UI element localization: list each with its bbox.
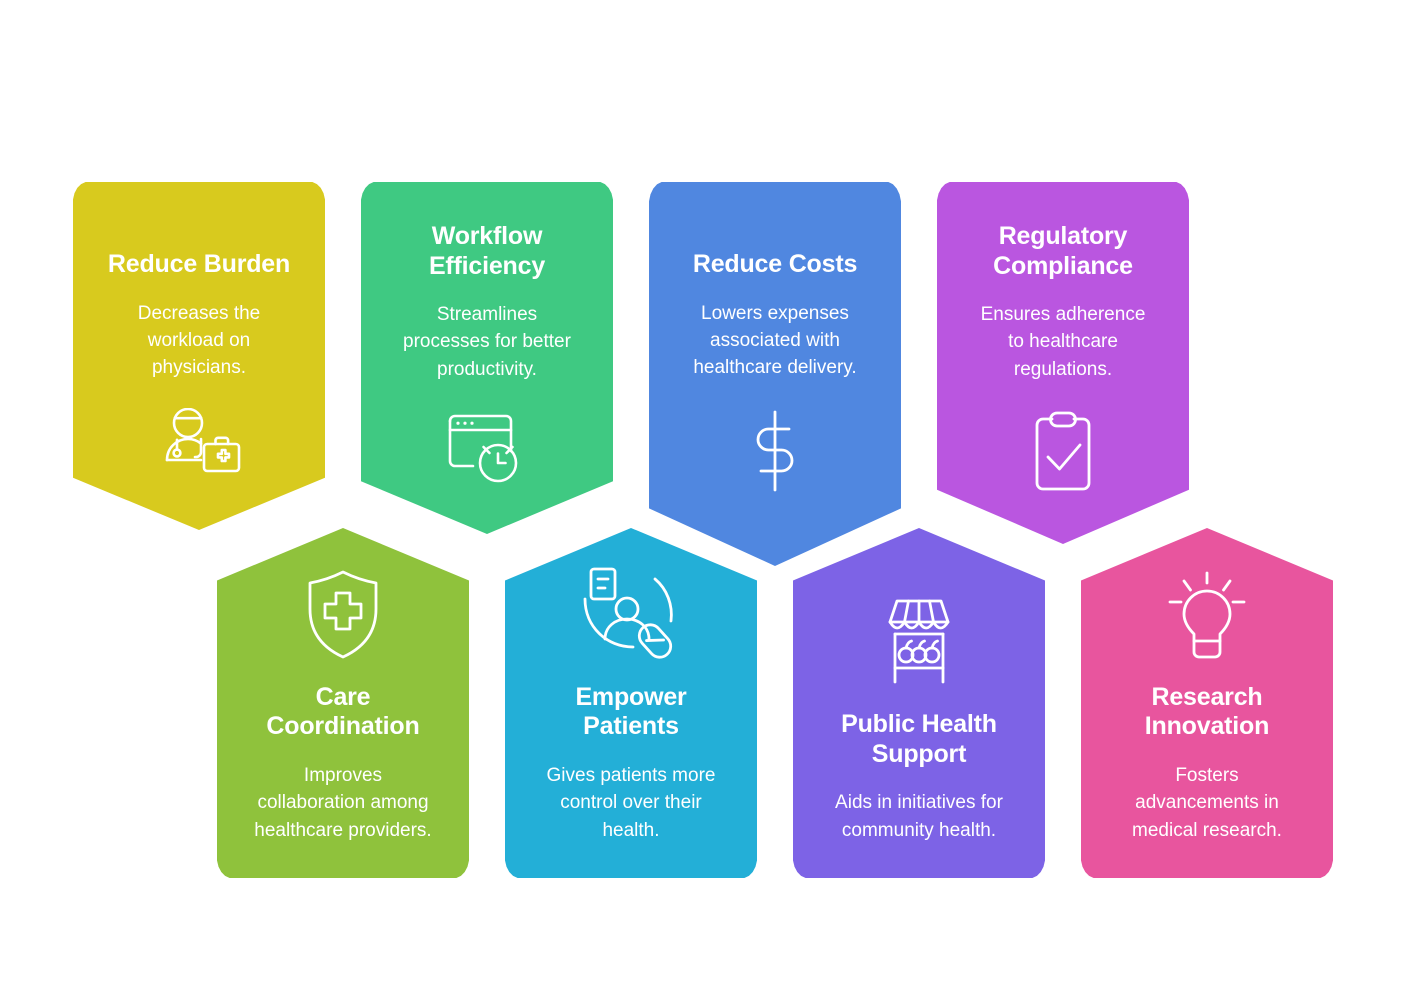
infographic-canvas: Reduce Burden Decreases the workload on … [0,0,1407,987]
card-workflow-efficiency[interactable]: Workflow Efficiency Streamlines processe… [361,182,613,534]
card-title: Care Coordination [266,683,419,742]
card-regulatory-compliance[interactable]: Regulatory Compliance Ensures adherence … [937,182,1189,544]
card-reduce-costs[interactable]: Reduce Costs Lowers expenses associated … [649,182,901,566]
card-public-health-support[interactable]: Public Health Support Aids in initiative… [793,528,1045,878]
card-reduce-burden[interactable]: Reduce Burden Decreases the workload on … [73,182,325,530]
lightbulb-idea-icon [1163,569,1251,661]
card-description: Improves collaboration among healthcare … [254,762,431,844]
shield-medical-cross-icon [301,569,385,661]
clipboard-checkmark-icon [1028,409,1098,497]
card-description: Streamlines processes for better product… [403,301,571,383]
dollar-sign-icon [744,408,806,494]
card-description: Fosters advancements in medical research… [1132,762,1282,844]
card-description: Gives patients more control over their h… [547,762,716,844]
market-stall-icon [876,596,962,688]
card-description: Aids in initiatives for community health… [835,789,1003,844]
card-title: Empower Patients [575,683,686,742]
card-care-coordination[interactable]: Care Coordination Improves collaboration… [217,528,469,878]
card-title: Research Innovation [1145,683,1269,742]
card-title: Public Health Support [841,710,997,769]
card-research-innovation[interactable]: Research Innovation Fosters advancements… [1081,528,1333,878]
card-description: Ensures adherence to healthcare regulati… [981,301,1146,383]
card-empower-patients[interactable]: Empower Patients Gives patients more con… [505,528,757,878]
card-title: Workflow Efficiency [429,222,545,281]
card-title: Regulatory Compliance [993,222,1133,281]
doctor-medical-bag-icon [155,408,243,494]
patient-record-pill-icon [581,565,681,661]
card-title: Reduce Costs [693,250,857,280]
card-description: Lowers expenses associated with healthca… [693,300,856,382]
card-title: Reduce Burden [108,250,290,280]
card-description: Decreases the workload on physicians. [138,300,261,382]
browser-window-clock-icon [444,409,530,487]
